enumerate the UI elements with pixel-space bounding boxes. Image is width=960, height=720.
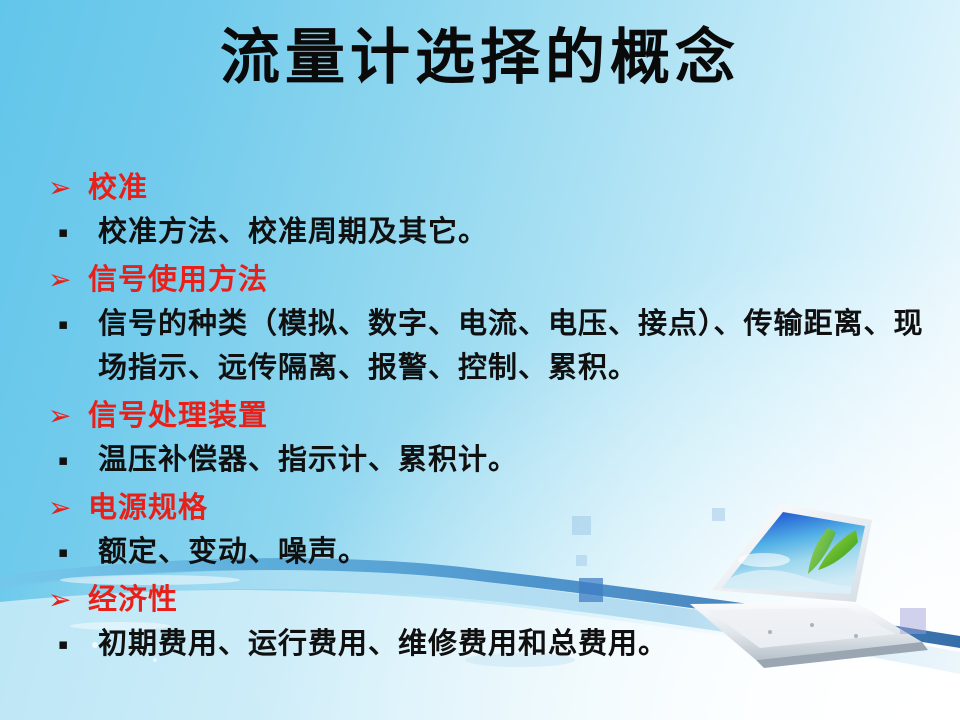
list-item-label: 初期费用、运行费用、维修费用和总费用。: [98, 622, 928, 666]
section-header-label: 校准: [88, 168, 928, 208]
section-header-row: ➢ 校准: [48, 168, 928, 208]
list-item: ▪ 信号的种类（模拟、数字、电流、电压、接点）、传输距离、现场指示、远传隔离、报…: [48, 302, 928, 390]
square-bullet-icon: ▪: [48, 438, 98, 482]
square-bullet-icon: ▪: [48, 530, 98, 574]
list-item: ▪ 初期费用、运行费用、维修费用和总费用。: [48, 622, 928, 666]
arrow-bullet-icon: ➢: [48, 488, 88, 528]
section-header-label: 信号处理装置: [88, 396, 928, 436]
section-header-label: 信号使用方法: [88, 260, 928, 300]
square-bullet-icon: ▪: [48, 210, 98, 254]
arrow-bullet-icon: ➢: [48, 260, 88, 300]
section-header-row: ➢ 信号处理装置: [48, 396, 928, 436]
list-item-label: 温压补偿器、指示计、累积计。: [98, 438, 928, 482]
section-header-row: ➢ 经济性: [48, 580, 928, 620]
list-item-label: 校准方法、校准周期及其它。: [98, 210, 928, 254]
list-item: ▪ 温压补偿器、指示计、累积计。: [48, 438, 928, 482]
slide-title: 流量计选择的概念: [0, 26, 960, 91]
square-bullet-icon: ▪: [48, 302, 98, 346]
list-item: ▪ 校准方法、校准周期及其它。: [48, 210, 928, 254]
list-item-label: 额定、变动、噪声。: [98, 530, 928, 574]
square-bullet-icon: ▪: [48, 622, 98, 666]
section-header-label: 经济性: [88, 580, 928, 620]
section-header-row: ➢ 信号使用方法: [48, 260, 928, 300]
arrow-bullet-icon: ➢: [48, 396, 88, 436]
content-list: ➢ 校准 ▪ 校准方法、校准周期及其它。 ➢ 信号使用方法 ▪ 信号的种类（模拟…: [48, 168, 928, 672]
section-header-row: ➢ 电源规格: [48, 488, 928, 528]
list-item: ▪ 额定、变动、噪声。: [48, 530, 928, 574]
arrow-bullet-icon: ➢: [48, 580, 88, 620]
list-item-label: 信号的种类（模拟、数字、电流、电压、接点）、传输距离、现场指示、远传隔离、报警、…: [98, 302, 928, 390]
section-header-label: 电源规格: [88, 488, 928, 528]
slide-canvas: 流量计选择的概念 ➢ 校准 ▪ 校准方法、校准周期及其它。 ➢ 信号使用方法 ▪…: [0, 0, 960, 720]
arrow-bullet-icon: ➢: [48, 168, 88, 208]
